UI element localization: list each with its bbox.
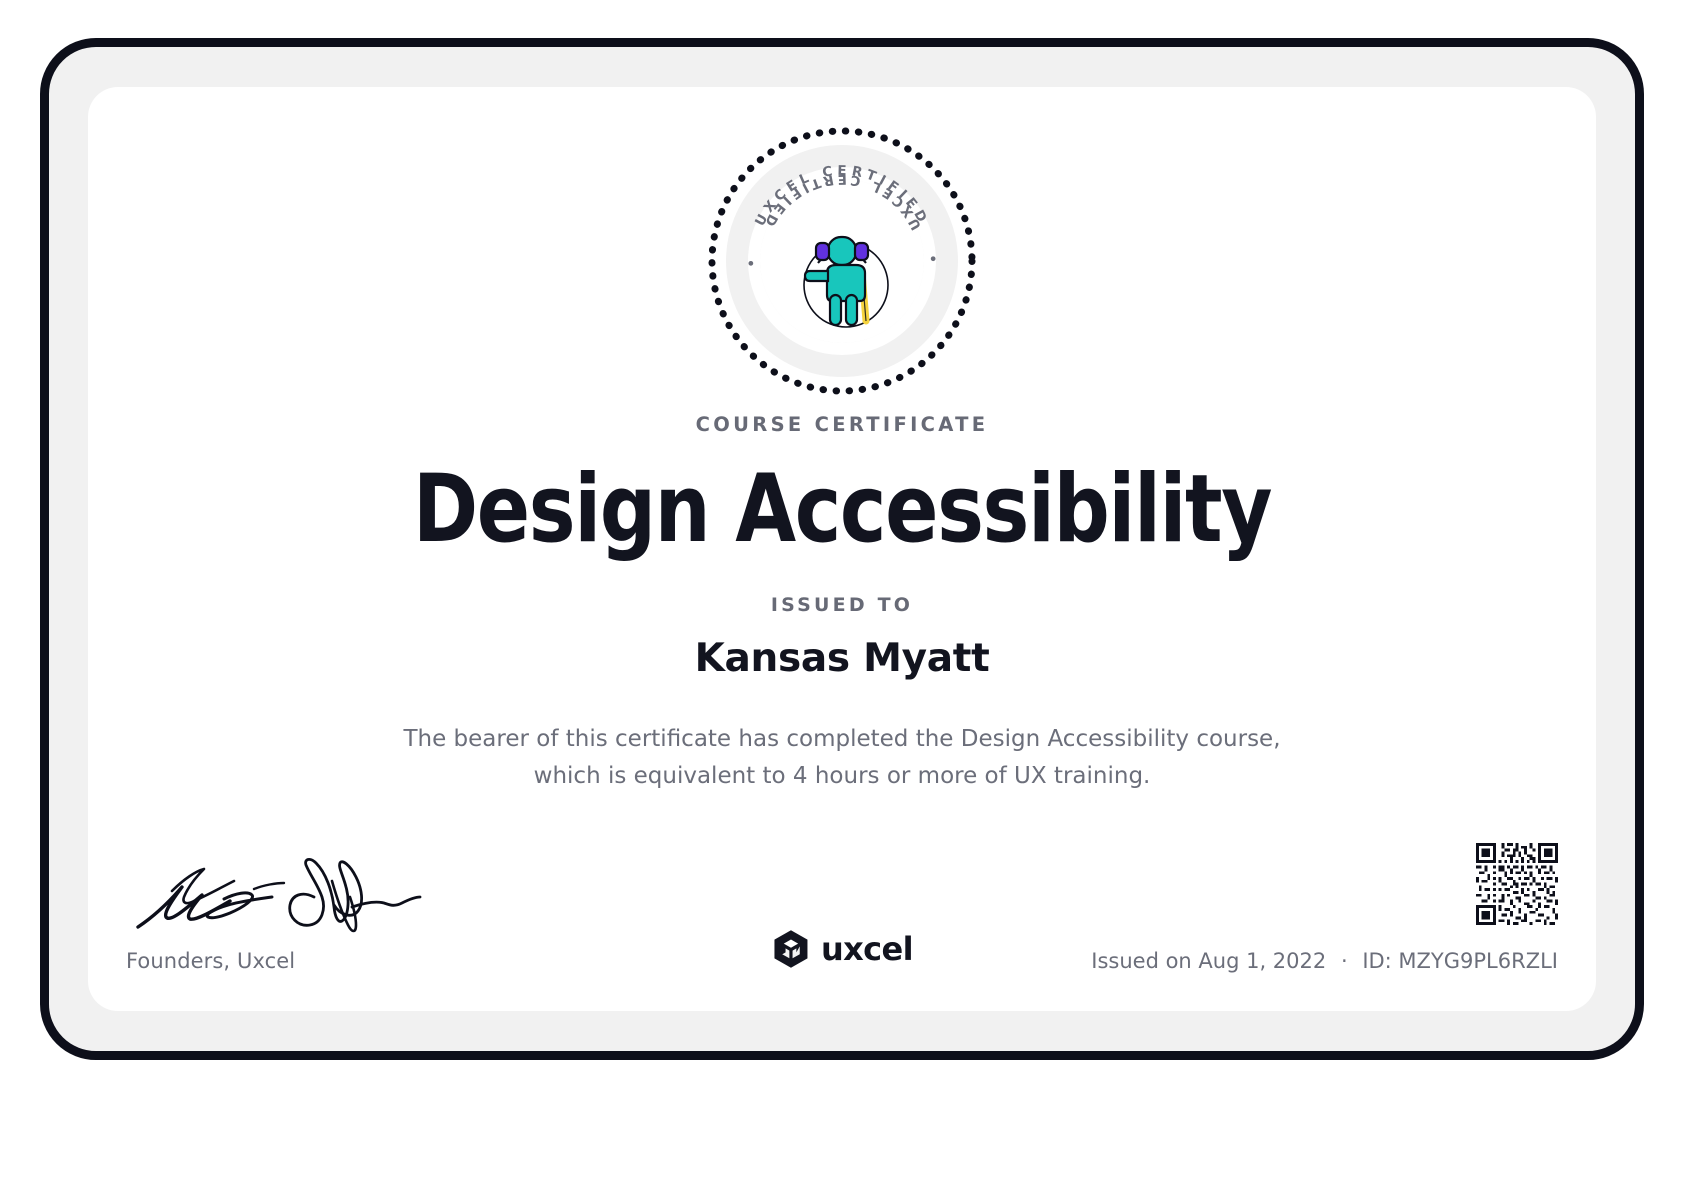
verification-qr-code[interactable] [1476,843,1558,925]
recipient-name: Kansas Myatt [88,636,1596,681]
uxcel-wordmark: uxcel [821,930,913,968]
uxcel-certified-seal-icon: UXCEL CERTIFIED UXCEL CERTIFIED • • [706,125,978,397]
issued-to-label: ISSUED TO [88,594,1596,616]
issue-date: Issued on Aug 1, 2022 [1091,949,1326,973]
certificate-type-label: COURSE CERTIFICATE [88,413,1596,436]
signature-caption: Founders, Uxcel [126,949,466,973]
certificate-footer: Founders, Uxcel uxcel [88,791,1596,1011]
certification-badge: UXCEL CERTIFIED UXCEL CERTIFIED • • [88,125,1596,397]
certificate-id: ID: MZYG9PL6RZLI [1362,949,1558,973]
description-line-2: which is equivalent to 4 hours or more o… [88,758,1596,795]
uxcel-hexagon-cube-icon [771,929,811,969]
uxcel-brand-logo: uxcel [771,929,913,969]
svg-text:•: • [924,254,940,267]
description-line-1: The bearer of this certificate has compl… [88,721,1596,758]
certificate-card: UXCEL CERTIFIED UXCEL CERTIFIED • • [88,87,1596,1011]
issue-info: Issued on Aug 1, 2022 · ID: MZYG9PL6RZLI [1091,949,1558,973]
certificate-body: COURSE CERTIFICATE Design Accessibility … [88,413,1596,796]
svg-text:•: • [744,254,760,267]
founders-signatures-icon [126,851,426,937]
certificate-description: The bearer of this certificate has compl… [88,721,1596,796]
certificate-outer-frame: UXCEL CERTIFIED UXCEL CERTIFIED • • [40,38,1644,1060]
course-title: Design Accessibility [141,460,1543,560]
signature-block: Founders, Uxcel [126,851,466,973]
meta-separator: · [1333,949,1356,973]
certificate-meta: Issued on Aug 1, 2022 · ID: MZYG9PL6RZLI [1091,843,1558,973]
